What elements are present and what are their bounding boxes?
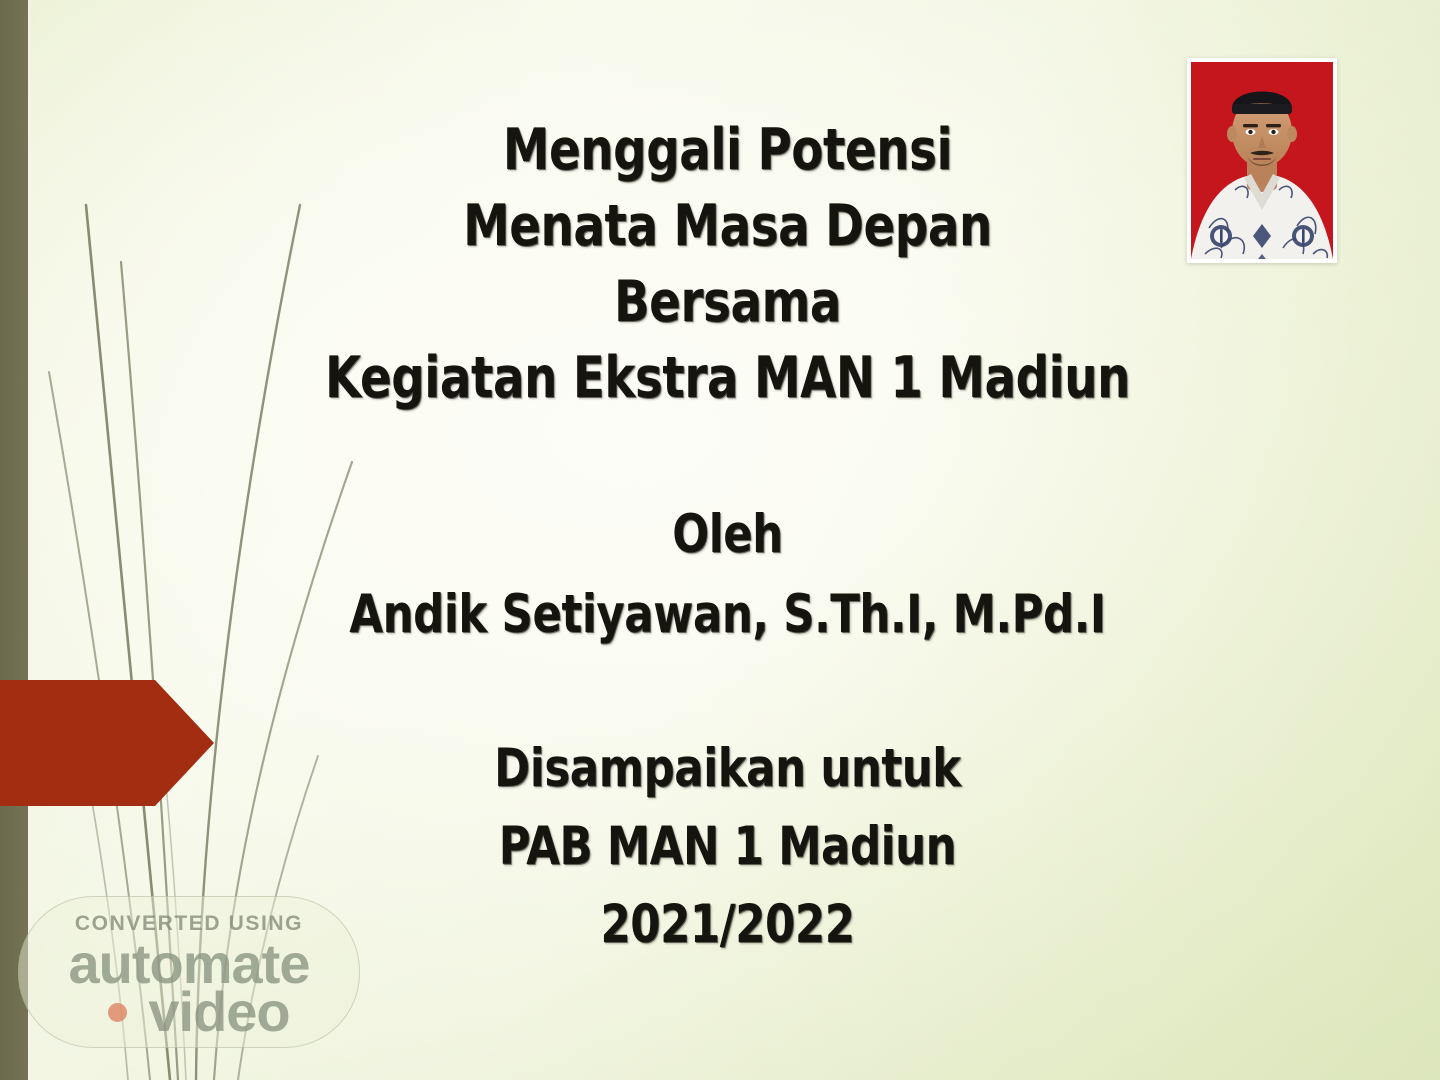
title-line-2: Menata Masa Depan bbox=[229, 188, 1225, 264]
author-label: Oleh bbox=[229, 495, 1225, 575]
author-name: Andik Setiyawan, S.Th.I, M.Pd.I bbox=[229, 575, 1225, 655]
audience-event: PAB MAN 1 Madiun bbox=[229, 808, 1225, 886]
title-line-4: Kegiatan Ekstra MAN 1 Madiun bbox=[229, 340, 1225, 416]
automate-video-watermark: CONVERTED USING automate video bbox=[18, 896, 360, 1048]
slide-title-block: Menggali Potensi Menata Masa Depan Bersa… bbox=[120, 112, 1335, 416]
author-block: Oleh Andik Setiyawan, S.Th.I, M.Pd.I bbox=[120, 495, 1335, 655]
title-line-3: Bersama bbox=[229, 264, 1225, 340]
audience-label: Disampaikan untuk bbox=[229, 730, 1225, 808]
presentation-slide: Menggali Potensi Menata Masa Depan Bersa… bbox=[0, 0, 1440, 1080]
audience-year: 2021/2022 bbox=[229, 886, 1225, 964]
title-line-1: Menggali Potensi bbox=[229, 112, 1225, 188]
watermark-brand-line-2: video bbox=[19, 985, 359, 1039]
watermark-orange-dot-icon bbox=[108, 1003, 127, 1022]
